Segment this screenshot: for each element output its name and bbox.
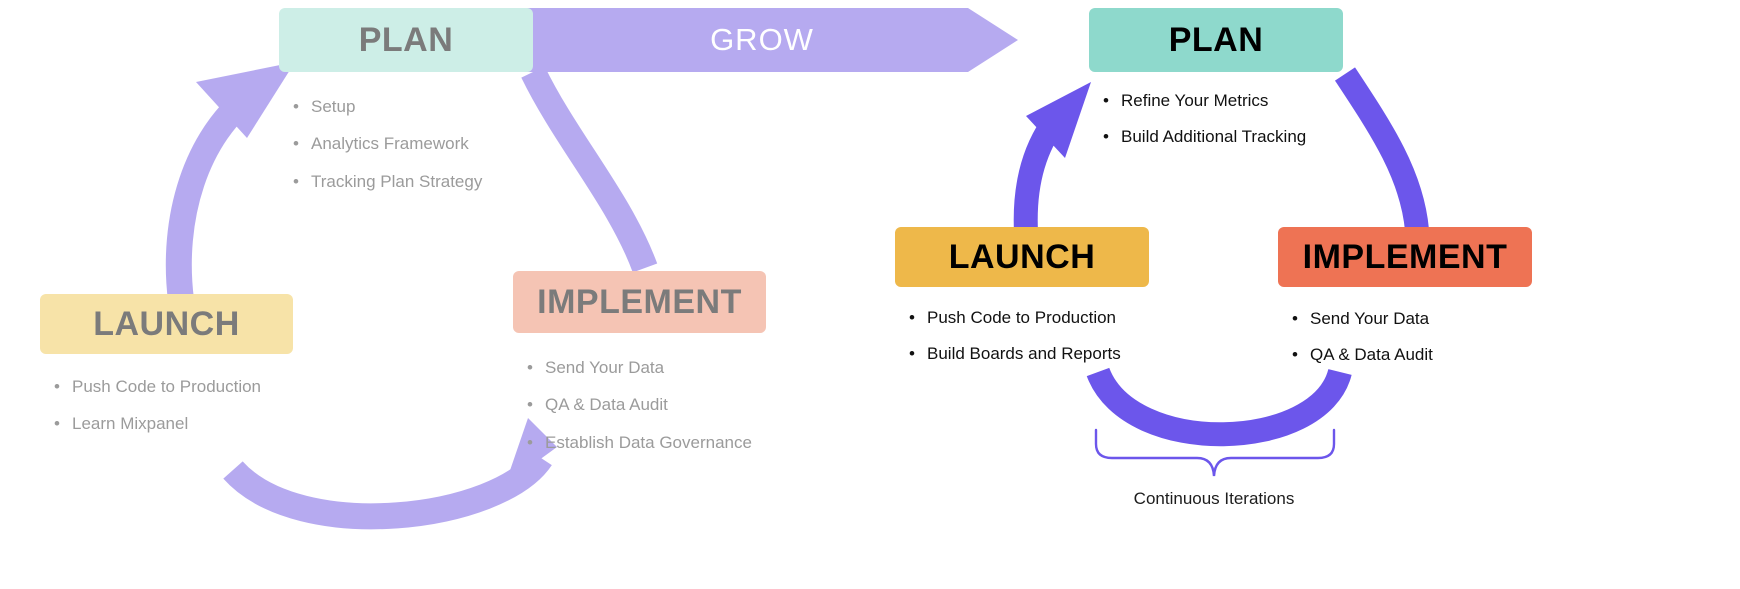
node-plan-left-list: • Setup • Analytics Framework • Tracking… xyxy=(279,96,533,192)
list-item: • Establish Data Governance xyxy=(527,432,766,453)
bullet-icon: • xyxy=(293,133,311,154)
node-launch-left-title: LAUNCH xyxy=(93,305,240,344)
node-launch-right-title: LAUNCH xyxy=(949,238,1096,277)
list-item-label: Send Your Data xyxy=(1310,308,1429,329)
list-item: • QA & Data Audit xyxy=(1292,344,1532,365)
list-item-label: Analytics Framework xyxy=(311,133,469,154)
node-plan-right: PLAN • Refine Your Metrics • Build Addit… xyxy=(1089,8,1343,163)
bullet-icon: • xyxy=(527,394,545,415)
node-implement-left-header: IMPLEMENT xyxy=(513,271,766,333)
list-item-label: Send Your Data xyxy=(545,357,664,378)
node-implement-left: IMPLEMENT • Send Your Data • QA & Data A… xyxy=(513,271,766,469)
list-item: • Learn Mixpanel xyxy=(54,413,293,434)
bullet-icon: • xyxy=(293,171,311,192)
continuous-iterations-text: Continuous Iterations xyxy=(1134,489,1295,508)
list-item-label: Push Code to Production xyxy=(72,376,261,397)
node-plan-left-header: PLAN xyxy=(279,8,533,72)
node-launch-left-list: • Push Code to Production • Learn Mixpan… xyxy=(40,376,293,435)
node-plan-right-header: PLAN xyxy=(1089,8,1343,72)
list-item-label: Learn Mixpanel xyxy=(72,413,188,434)
arrow-right-implement-to-launch xyxy=(1098,372,1340,434)
list-item: • Setup xyxy=(293,96,533,117)
bullet-icon: • xyxy=(54,413,72,434)
node-launch-right-header: LAUNCH xyxy=(895,227,1149,287)
list-item: • QA & Data Audit xyxy=(527,394,766,415)
list-item: • Send Your Data xyxy=(1292,308,1532,329)
grow-label-text: GROW xyxy=(710,22,814,58)
list-item: • Refine Your Metrics xyxy=(1103,90,1343,111)
list-item: • Push Code to Production xyxy=(909,307,1149,328)
node-plan-right-title: PLAN xyxy=(1169,21,1264,60)
bullet-icon: • xyxy=(1103,126,1121,147)
node-launch-left: LAUNCH • Push Code to Production • Learn… xyxy=(40,294,293,451)
bullet-icon: • xyxy=(1292,344,1310,365)
arrow-left-launch-to-plan xyxy=(179,62,295,300)
node-plan-right-list: • Refine Your Metrics • Build Additional… xyxy=(1089,90,1343,148)
bullet-icon: • xyxy=(54,376,72,397)
continuous-iterations-label: Continuous Iterations xyxy=(1064,489,1364,509)
node-plan-left: PLAN • Setup • Analytics Framework • Tra… xyxy=(279,8,533,208)
list-item-label: Establish Data Governance xyxy=(545,432,752,453)
node-launch-right: LAUNCH • Push Code to Production • Build… xyxy=(895,227,1149,380)
node-plan-left-title: PLAN xyxy=(359,21,454,60)
node-launch-right-list: • Push Code to Production • Build Boards… xyxy=(895,307,1149,365)
node-implement-right: IMPLEMENT • Send Your Data • QA & Data A… xyxy=(1278,227,1532,381)
grow-banner-label: GROW xyxy=(527,8,997,72)
bullet-icon: • xyxy=(1292,308,1310,329)
list-item: • Build Additional Tracking xyxy=(1103,126,1343,147)
diagram-canvas: GROW PLAN • Setup • Analytics Framework … xyxy=(0,0,1740,589)
list-item-label: Refine Your Metrics xyxy=(1121,90,1268,111)
list-item-label: Setup xyxy=(311,96,355,117)
list-item-label: Build Boards and Reports xyxy=(927,343,1121,364)
list-item: • Analytics Framework xyxy=(293,133,533,154)
list-item-label: QA & Data Audit xyxy=(1310,344,1433,365)
list-item: • Push Code to Production xyxy=(54,376,293,397)
arrow-left-plan-to-implement xyxy=(533,72,645,268)
node-implement-right-title: IMPLEMENT xyxy=(1303,238,1508,277)
bullet-icon: • xyxy=(909,307,927,328)
bullet-icon: • xyxy=(1103,90,1121,111)
list-item-label: Tracking Plan Strategy xyxy=(311,171,482,192)
node-implement-left-title: IMPLEMENT xyxy=(537,283,742,322)
arrow-right-launch-to-plan xyxy=(1026,82,1091,232)
node-implement-right-list: • Send Your Data • QA & Data Audit xyxy=(1278,308,1532,366)
node-implement-left-list: • Send Your Data • QA & Data Audit • Est… xyxy=(513,357,766,453)
list-item-label: Push Code to Production xyxy=(927,307,1116,328)
list-item: • Tracking Plan Strategy xyxy=(293,171,533,192)
node-launch-left-header: LAUNCH xyxy=(40,294,293,354)
bullet-icon: • xyxy=(293,96,311,117)
list-item-label: Build Additional Tracking xyxy=(1121,126,1306,147)
list-item: • Build Boards and Reports xyxy=(909,343,1149,364)
node-implement-right-header: IMPLEMENT xyxy=(1278,227,1532,287)
bullet-icon: • xyxy=(909,343,927,364)
arrow-right-plan-to-implement xyxy=(1345,74,1417,230)
bullet-icon: • xyxy=(527,357,545,378)
bullet-icon: • xyxy=(527,432,545,453)
list-item: • Send Your Data xyxy=(527,357,766,378)
list-item-label: QA & Data Audit xyxy=(545,394,668,415)
